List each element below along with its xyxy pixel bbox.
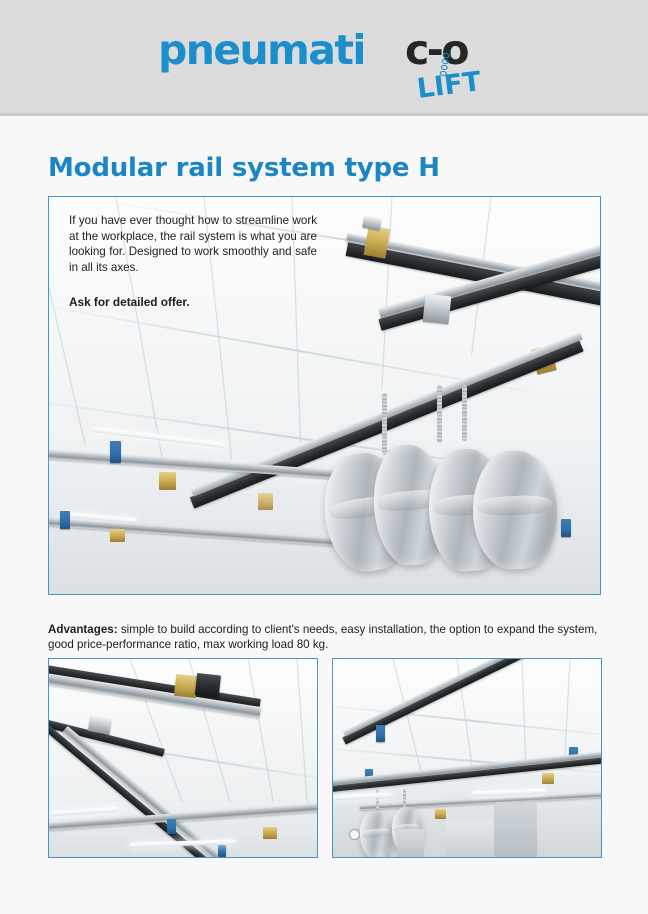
blue-rail-clamp <box>376 725 385 742</box>
blue-rail-clamp <box>167 819 176 834</box>
hero-call-to-action: Ask for detailed offer. <box>69 295 317 311</box>
logo-wordmark-primary: pneumati <box>158 28 365 72</box>
page-title: Modular rail system type H <box>48 153 440 183</box>
trolley-block <box>263 827 277 839</box>
thumbnail-workshop-overview <box>332 658 602 858</box>
trolley-block <box>258 493 273 510</box>
logo-tagline: LIFT <box>415 66 482 105</box>
blue-rail-clamp <box>561 519 571 537</box>
trolley-housing <box>195 673 221 697</box>
blue-rail-clamp <box>218 845 226 857</box>
blue-rail-clamp <box>60 511 70 529</box>
hero-copy: If you have ever thought how to streamli… <box>69 213 317 311</box>
trolley-block <box>542 773 554 784</box>
advantages-text: Advantages: simple to build according to… <box>48 622 601 654</box>
advantages-label: Advantages: <box>48 623 118 636</box>
workbench <box>446 821 494 857</box>
hero-image: If you have ever thought how to streamli… <box>48 196 601 595</box>
brochure-page: pneumati c-o LIFT Modular rail system ty… <box>0 0 648 914</box>
trolley-block <box>110 529 125 542</box>
page-header: pneumati c-o LIFT <box>0 0 648 116</box>
advantages-body: simple to build according to client's ne… <box>48 623 597 652</box>
thumbnail-rail-junction-detail <box>48 658 318 858</box>
blue-rail-clamp <box>110 441 121 463</box>
logo-wordmark-secondary: c-o <box>405 28 467 72</box>
hero-copy-paragraph: If you have ever thought how to streamli… <box>69 213 317 275</box>
rail-junction-bracket <box>422 294 451 325</box>
storage-rack <box>397 829 424 857</box>
duct-equipment <box>494 802 537 857</box>
hoist-chain <box>382 393 387 455</box>
hoist-chain <box>437 385 442 443</box>
trolley-block <box>159 472 176 490</box>
trolley-block <box>435 809 446 819</box>
hoist-chain <box>462 385 467 441</box>
brand-logo[interactable]: pneumati c-o LIFT <box>158 26 488 100</box>
